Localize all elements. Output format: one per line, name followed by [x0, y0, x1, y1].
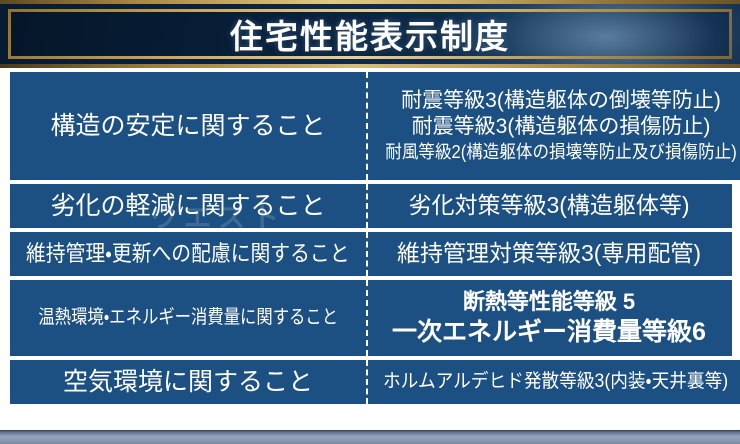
banner-gold-bottom-edge — [0, 64, 740, 68]
grade-label: 耐震等級3(構造躯体の損傷防止) — [370, 114, 740, 141]
grade-label: ホルムアルデヒド発散等級3(内装・天井裏等) — [383, 370, 728, 394]
table-row: 空気環境に関すること ホルムアルデヒド発散等級3(内装・天井裏等) — [10, 360, 732, 404]
performance-table: 構造の安定に関すること 耐震等級3(構造躯体の倒壊等防止) 耐震等級3(構造躯体… — [10, 72, 732, 408]
table-row: 維持管理・更新への配慮に関すること 維持管理対策等級3(専用配管) — [10, 232, 732, 276]
grade-label: 一次エネルギー消費量等級6 — [370, 316, 728, 348]
table-row: 構造の安定に関すること 耐震等級3(構造躯体の倒壊等防止) 耐震等級3(構造躯体… — [10, 72, 732, 180]
category-label: 構造の安定に関すること — [50, 110, 325, 142]
grade-label: 維持管理対策等級3(専用配管) — [370, 239, 728, 268]
row-grade-cell: 劣化対策等級3(構造躯体等) — [366, 184, 732, 228]
grade-label: 耐震等級3(構造躯体の倒壊等防止) — [370, 88, 740, 115]
row-category-cell: 空気環境に関すること — [10, 360, 366, 404]
row-grade-cell: 耐震等級3(構造躯体の倒壊等防止) 耐震等級3(構造躯体の損傷防止) 耐風等級2… — [366, 72, 740, 180]
grade-list: 耐震等級3(構造躯体の倒壊等防止) 耐震等級3(構造躯体の損傷防止) 耐風等級2… — [370, 88, 740, 165]
slide-root: 住宅性能表示制度 構造の安定に関すること 耐震等級3(構造躯体の倒壊等防止) 耐… — [0, 0, 740, 444]
category-label: 空気環境に関すること — [63, 366, 313, 398]
grade-list: ホルムアルデヒド発散等級3(内装・天井裏等) — [370, 370, 740, 394]
grade-list: 劣化対策等級3(構造躯体等) — [370, 191, 728, 220]
grade-label: 断熱等性能等級 5 — [370, 288, 728, 316]
banner-gold-top-edge — [0, 0, 740, 4]
row-category-cell: 構造の安定に関すること — [10, 72, 366, 180]
row-grade-cell: 維持管理対策等級3(専用配管) — [366, 232, 732, 276]
banner-gold-frame: 住宅性能表示制度 — [8, 9, 732, 59]
page-title: 住宅性能表示制度 — [11, 10, 729, 58]
grade-list: 維持管理対策等級3(専用配管) — [370, 239, 728, 268]
bottom-strip — [0, 430, 740, 444]
table-row: 劣化の軽減に関すること 劣化対策等級3(構造躯体等) — [10, 184, 732, 228]
grade-list: 断熱等性能等級 5 一次エネルギー消費量等級6 — [370, 288, 728, 348]
row-category-cell: 温熱環境・エネルギー消費量に関すること — [10, 280, 366, 356]
grade-label: 劣化対策等級3(構造躯体等) — [370, 191, 728, 220]
category-label: 劣化の軽減に関すること — [50, 190, 325, 222]
row-category-cell: 劣化の軽減に関すること — [10, 184, 366, 228]
row-grade-cell: 断熱等性能等級 5 一次エネルギー消費量等級6 — [366, 280, 732, 356]
row-category-cell: 維持管理・更新への配慮に関すること — [10, 232, 366, 276]
title-banner: 住宅性能表示制度 — [0, 0, 740, 68]
grade-label: 耐風等級2(構造躯体の損壊等防止及び損傷防止) — [385, 141, 736, 164]
category-label: 温熱環境・エネルギー消費量に関すること — [38, 306, 338, 330]
category-label: 維持管理・更新への配慮に関すること — [26, 240, 350, 268]
table-row: 温熱環境・エネルギー消費量に関すること 断熱等性能等級 5 一次エネルギー消費量… — [10, 280, 732, 356]
row-grade-cell: ホルムアルデヒド発散等級3(内装・天井裏等) — [366, 360, 740, 404]
